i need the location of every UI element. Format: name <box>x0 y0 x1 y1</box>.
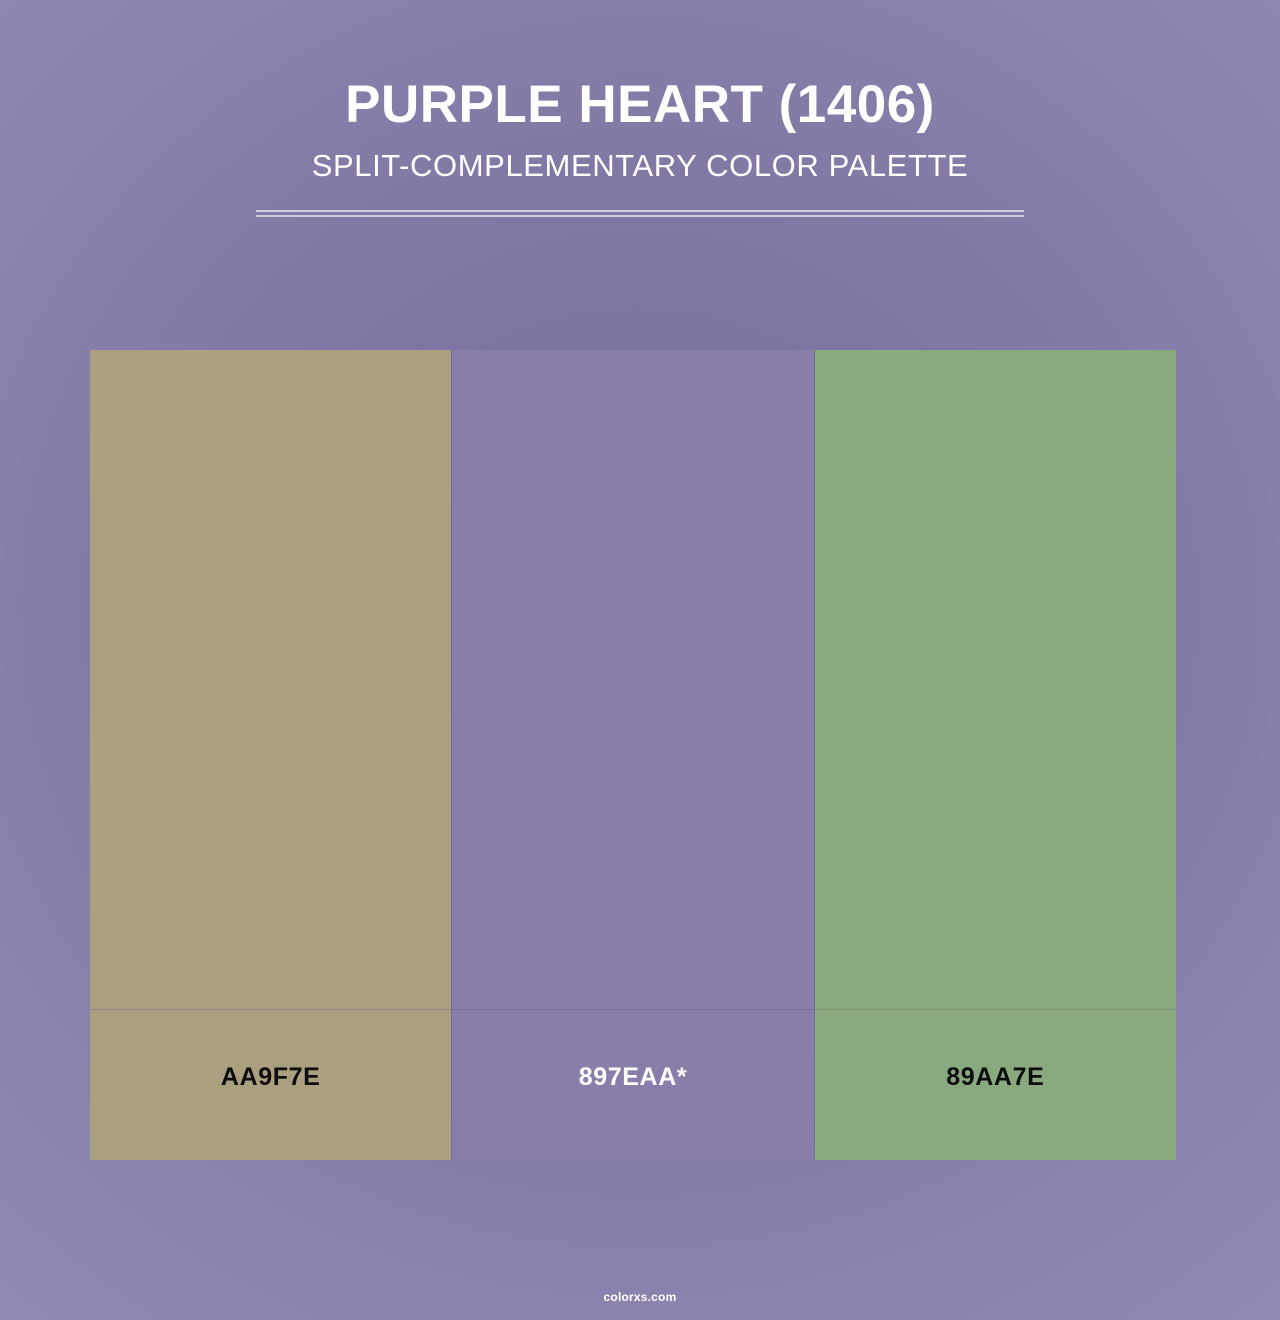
site-credit: colorxs.com <box>604 1290 677 1304</box>
color-swatch-label-strip[interactable]: 897EAA* <box>452 1009 813 1160</box>
color-swatch-chip[interactable] <box>90 350 451 1009</box>
page-header: PURPLE HEART (1406) SPLIT-COMPLEMENTARY … <box>0 0 1280 217</box>
color-swatch-label-strip[interactable]: AA9F7E <box>90 1009 451 1160</box>
title-divider <box>256 210 1024 217</box>
color-swatch-chip[interactable] <box>452 350 813 1009</box>
page-footer: colorxs.com <box>0 1288 1280 1306</box>
color-hex-label: 89AA7E <box>946 1063 1044 1091</box>
page-subtitle: SPLIT-COMPLEMENTARY COLOR PALETTE <box>0 136 1280 186</box>
color-hex-label: AA9F7E <box>221 1063 320 1091</box>
swatch-column-3[interactable]: 89AA7E <box>814 350 1176 1160</box>
swatch-column-2[interactable]: 897EAA* <box>451 350 813 1160</box>
color-swatch-label-strip[interactable]: 89AA7E <box>815 1009 1176 1160</box>
swatch-column-1[interactable]: AA9F7E <box>90 350 451 1160</box>
color-palette-panel: AA9F7E 897EAA* 89AA7E <box>90 350 1176 1160</box>
color-swatch-chip[interactable] <box>815 350 1176 1009</box>
page-title: PURPLE HEART (1406) <box>0 0 1280 136</box>
color-hex-label: 897EAA* <box>579 1063 687 1091</box>
